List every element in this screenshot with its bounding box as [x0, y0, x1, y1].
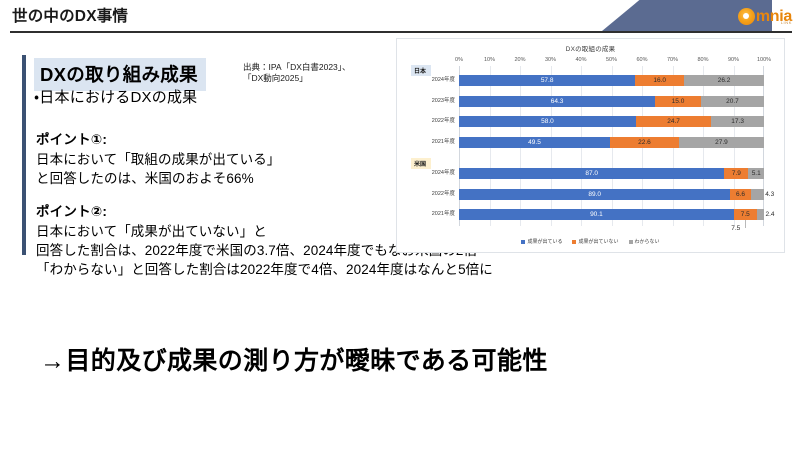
chart-category-label: 2021年度 — [432, 209, 455, 220]
header-divider — [10, 31, 792, 33]
legend-label: わからない — [635, 238, 660, 245]
chart-category-labels: 日本2024年度2023年度2022年度2021年度米国2024年度2022年度… — [397, 66, 455, 226]
logo-tagline: LINK — [781, 20, 792, 25]
chart-bar-segment: 57.8 — [459, 75, 635, 86]
chart-title: DXの取組の成果 — [397, 43, 784, 53]
point-1-line-1: 日本において「取組の成果が出ている」 — [36, 150, 280, 169]
x-axis-tick: 100% — [757, 57, 771, 63]
chart-bar-segment: 5.1 — [748, 168, 764, 179]
chart-bar-segment: 7.5 — [734, 209, 757, 220]
chart-bar-segment: 16.0 — [635, 75, 684, 86]
point-1-line-2: と回答したのは、米国のおよそ66% — [36, 169, 280, 188]
chart-panel: DXの取組の成果 0%10%20%30%40%50%60%70%80%90%10… — [396, 38, 785, 253]
chart-bar-row: 64.315.020.7 — [459, 96, 764, 107]
chart-bar-segment: 64.3 — [459, 96, 655, 107]
left-accent-bar — [22, 55, 26, 255]
chart-bar-row: 87.07.95.1 — [459, 168, 764, 179]
chart-bar-segment: 26.2 — [684, 75, 764, 86]
chart-bar-row: 49.522.627.9 — [459, 137, 764, 148]
point-2-line-3: 「わからない」と回答した割合は2022年度で4倍、2024年度はなんと5倍に — [36, 260, 493, 279]
chart-category-label: 2024年度 — [432, 168, 455, 179]
x-axis-tick: 60% — [636, 57, 647, 63]
chart-plot-area: 57.816.026.264.315.020.758.024.717.349.5… — [459, 66, 764, 226]
x-axis-tick: 30% — [545, 57, 556, 63]
x-axis-tick: 0% — [455, 57, 463, 63]
chart-bar-segment: 87.0 — [459, 168, 724, 179]
chart-bar-segment: 22.6 — [610, 137, 679, 148]
chart-bar-segment: 90.1 — [459, 209, 734, 220]
chart-legend: 成果が出ている成果が出ていないわからない — [397, 238, 784, 245]
logo-circle-icon — [738, 8, 755, 25]
chart-legend-item: 成果が出ていない — [572, 238, 618, 245]
x-axis-tick: 90% — [728, 57, 739, 63]
chart-bar-segment: 24.7 — [636, 116, 711, 127]
chart-bar-row: 57.816.026.2 — [459, 75, 764, 86]
page-title: 世の中のDX事情 — [12, 4, 128, 26]
chart-bar-segment: 6.6 — [730, 189, 750, 200]
legend-swatch-icon — [629, 240, 633, 244]
chart-bar-segment: 4.3 — [751, 189, 764, 200]
chart-value-label: 2.4 — [766, 211, 775, 218]
point-block-1: ポイント①: 日本において「取組の成果が出ている」 と回答したのは、米国のおよそ… — [36, 128, 280, 188]
chart-bar-segment: 49.5 — [459, 137, 610, 148]
chart-bar-row: 58.024.717.3 — [459, 116, 764, 127]
conclusion-statement: →目的及び成果の測り方が曖昧である可能性 — [40, 341, 548, 377]
subheading-line: ・日本におけるDXの成果 — [34, 86, 197, 107]
chart-bar-row: 90.17.52.4 — [459, 209, 764, 220]
chart-bar-segment: 58.0 — [459, 116, 636, 127]
chart-category-label: 2024年度 — [432, 75, 455, 86]
x-axis-tick: 70% — [667, 57, 678, 63]
x-axis-tick: 50% — [606, 57, 617, 63]
source-note: 出典：IPA「DX白書2023」、 「DX動向2025」 — [243, 62, 351, 84]
x-axis-tick: 80% — [697, 57, 708, 63]
chart-x-axis: 0%10%20%30%40%50%60%70%80%90%100% — [459, 57, 764, 66]
chart-group-tag-us: 米国 — [411, 158, 431, 169]
chart-bar-row: 89.06.64.3 — [459, 189, 764, 200]
legend-swatch-icon — [572, 240, 576, 244]
slide-header: 世の中のDX事情 mnia LINK — [0, 0, 800, 32]
chart-legend-item: 成果が出ている — [521, 238, 562, 245]
chart-bar-segment: 89.0 — [459, 189, 730, 200]
chart-legend-item: わからない — [629, 238, 660, 245]
point-1-label: ポイント①: — [36, 128, 280, 148]
x-axis-tick: 40% — [575, 57, 586, 63]
legend-label: 成果が出ている — [527, 238, 562, 245]
chart-category-label: 2023年度 — [432, 96, 455, 107]
chart-bar-segment: 7.9 — [724, 168, 748, 179]
chart-bar-segment: 2.4 — [757, 209, 764, 220]
chart-bar-segment: 20.7 — [701, 96, 764, 107]
chart-bar-segment: 15.0 — [655, 96, 701, 107]
chart-category-label: 2022年度 — [432, 116, 455, 127]
chart-value-label: 4.3 — [765, 191, 774, 198]
legend-label: 成果が出ていない — [578, 238, 618, 245]
chart-callout-leader — [745, 220, 746, 228]
x-axis-tick: 20% — [514, 57, 525, 63]
chart-callout-label: 7.5 — [731, 225, 740, 232]
legend-swatch-icon — [521, 240, 525, 244]
x-axis-tick: 10% — [484, 57, 495, 63]
chart-group-tag-japan: 日本 — [411, 65, 431, 76]
chart-bar-segment: 17.3 — [711, 116, 764, 127]
chart-category-label: 2022年度 — [432, 189, 455, 200]
chart-bar-segment: 27.9 — [679, 137, 764, 148]
chart-category-label: 2021年度 — [432, 137, 455, 148]
